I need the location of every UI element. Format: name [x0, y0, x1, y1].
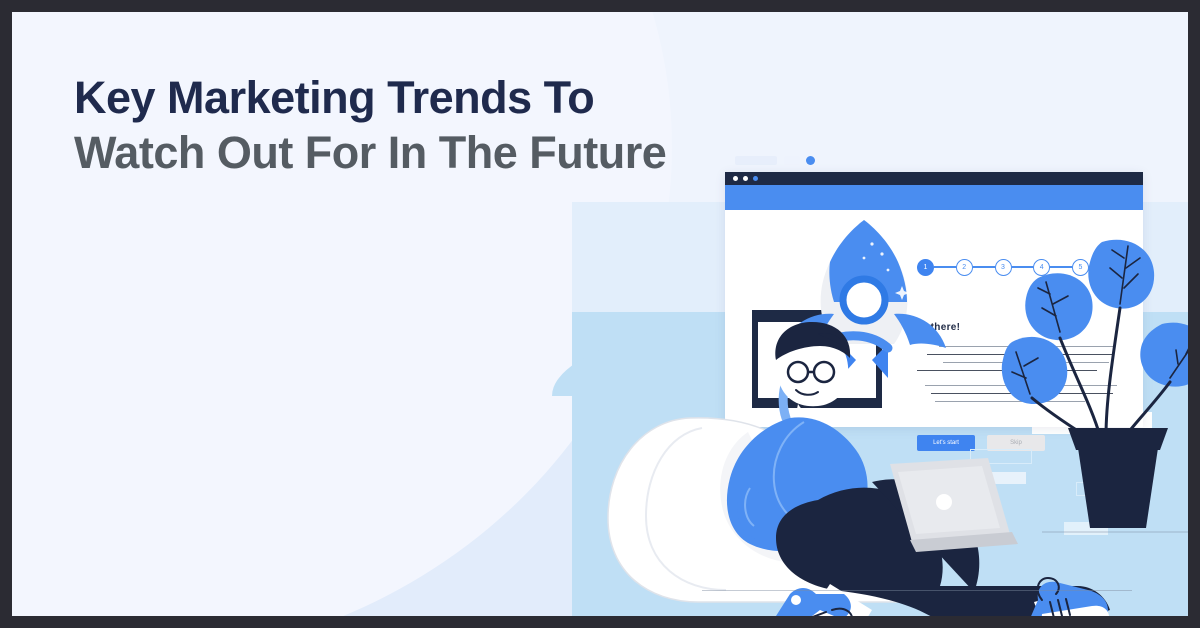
- sneaker-right: [1026, 578, 1109, 616]
- floor-line: [702, 590, 1132, 591]
- window-dot-icon-3: [753, 176, 758, 181]
- decorative-chip-2: [784, 156, 800, 165]
- decorative-dot-icon: [806, 156, 815, 165]
- decorative-chip-1: [735, 156, 777, 165]
- window-dot-icon-2: [743, 176, 748, 181]
- banner-frame: Key Marketing Trends To Watch Out For In…: [12, 12, 1188, 616]
- page-title: Key Marketing Trends To Watch Out For In…: [74, 74, 754, 177]
- potted-plant: [1002, 240, 1188, 532]
- character-illustration: [572, 182, 1188, 616]
- window-dot-icon-1: [733, 176, 738, 181]
- headline-line-1: Key Marketing Trends To: [74, 74, 754, 123]
- headline-line-2: Watch Out For In The Future: [74, 129, 754, 178]
